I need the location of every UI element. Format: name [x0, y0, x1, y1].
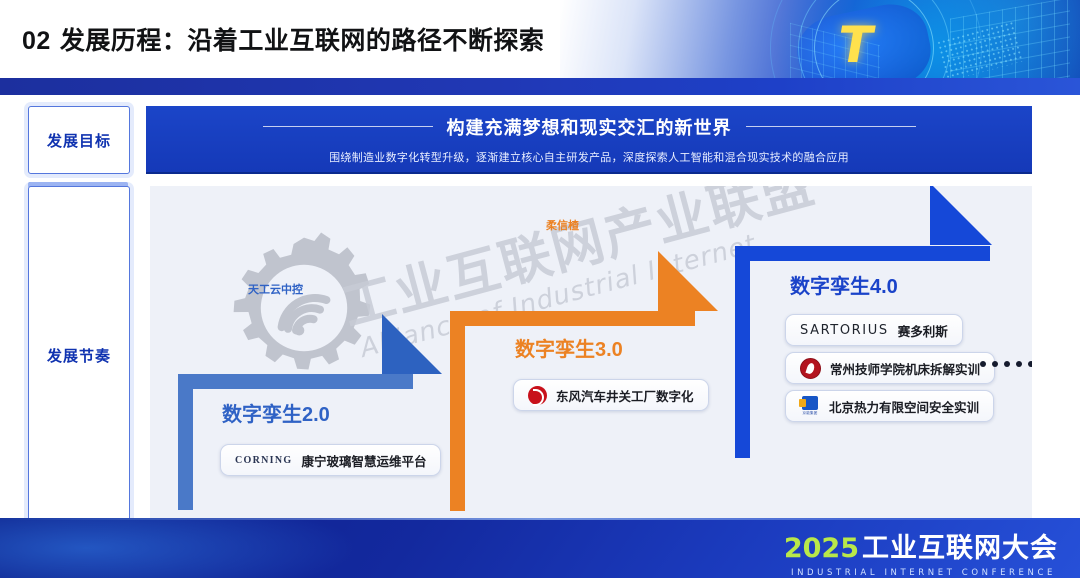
- deco-letter-t-icon: T: [833, 22, 898, 74]
- goal-banner-headline: 构建充满梦想和现实交汇的新世界: [263, 114, 916, 140]
- ellipsis-dot: [992, 361, 998, 367]
- footer-glow: [0, 518, 380, 578]
- dongfeng-logo: [528, 386, 547, 405]
- rail-card-goal[interactable]: 发展目标: [28, 106, 130, 174]
- beijing-heat-logo-mark: [802, 396, 818, 410]
- header-divider-bar: [0, 78, 1080, 95]
- continuation-ellipsis: [980, 361, 1032, 367]
- slide-header: T 02发展历程：沿着工业互联网的路径不断探索: [0, 0, 1080, 95]
- stage-2-badge-dongfeng[interactable]: 东风汽车井关工厂数字化: [513, 379, 709, 411]
- ellipsis-dot: [1016, 361, 1022, 367]
- stage-3-badge-label-2: 常州技师学院机床拆解实训: [830, 359, 980, 378]
- ellipsis-dot: [980, 361, 986, 367]
- slide-footer: 2025 工业互联网大会 INDUSTRIAL INTERNET CONFERE…: [0, 518, 1080, 578]
- stage-1-arrow-icon: [382, 314, 442, 374]
- brand-name-en: INDUSTRIAL INTERNET CONFERENCE: [791, 568, 1056, 578]
- stage-1-badge-corning[interactable]: CORNING 康宁玻璃智慧运维平台: [220, 444, 441, 476]
- brand-name-cn: 工业互联网大会: [862, 526, 1058, 565]
- section-number: 02: [22, 27, 51, 55]
- brand-primary-line: 2025 工业互联网大会: [784, 526, 1058, 565]
- page-title: 02发展历程：沿着工业互联网的路径不断探索: [22, 21, 544, 57]
- brand-year: 2025: [784, 533, 859, 564]
- stage-3-arrow-icon: [930, 186, 992, 245]
- roadmap-panel: 工业互联网产业联盟 Alliance of Industrial Interne…: [150, 186, 1032, 522]
- goal-banner: 构建充满梦想和现实交汇的新世界 围绕制造业数字化转型升级，逐渐建立核心自主研发产…: [146, 106, 1032, 174]
- stage-2-badge-label: 东风汽车井关工厂数字化: [556, 386, 694, 405]
- stage-3-badge-label-1: 赛多利斯: [898, 321, 948, 340]
- stage-1-caption: 天工云中控: [248, 281, 303, 297]
- rail-card-rhythm[interactable]: 发展节奏: [28, 186, 130, 524]
- corning-logo: CORNING: [235, 455, 292, 466]
- beijing-heat-logo: 京能集团: [800, 395, 820, 417]
- stage-2-title: 数字孪生3.0: [515, 333, 623, 362]
- stage-2-bracket-vertical: [450, 311, 465, 511]
- gear-wifi-watermark-icon: [224, 228, 384, 388]
- stage-3-title: 数字孪生4.0: [790, 270, 898, 299]
- beijing-heat-logo-text: 京能集团: [802, 411, 817, 416]
- slide-body: 发展目标 发展节奏 构建充满梦想和现实交汇的新世界 围绕制造业数字化转型升级，逐…: [0, 98, 1080, 518]
- ellipsis-dot: [1004, 361, 1010, 367]
- goal-rule-right: [746, 126, 916, 127]
- stage-2-arrow-icon: [658, 251, 718, 311]
- stage-3-badge-label-3: 北京热力有限空间安全实训: [829, 397, 979, 416]
- stage-3-bracket-vertical: [735, 246, 750, 458]
- stage-1-title: 数字孪生2.0: [222, 398, 330, 427]
- stage-1-bracket-vertical: [178, 374, 193, 510]
- changzhou-tech-logo: [800, 358, 821, 379]
- goal-subtitle: 围绕制造业数字化转型升级，逐渐建立核心自主研发产品，深度探索人工智能和混合现实技…: [329, 149, 849, 165]
- rail-goal-label: 发展目标: [47, 130, 111, 151]
- stage-3-bracket-horizontal: [735, 246, 990, 261]
- conference-brand-logo: 2025 工业互联网大会 INDUSTRIAL INTERNET CONFERE…: [784, 526, 1058, 578]
- footer-top-highlight: [0, 518, 1080, 520]
- goal-rule-left: [263, 126, 433, 127]
- stage-2-caption: 柔信楂: [546, 217, 579, 233]
- stage-1-badge-label: 康宁玻璃智慧运维平台: [301, 451, 426, 470]
- section-title-text: 发展历程：沿着工业互联网的路径不断探索: [60, 27, 545, 55]
- stage-3-badge-beijing-heat[interactable]: 京能集团 北京热力有限空间安全实训: [785, 390, 994, 422]
- stage-1-bracket-horizontal: [178, 374, 413, 389]
- sartorius-logo: SARTORIUS: [800, 323, 889, 338]
- stage-2-bracket-horizontal: [450, 311, 695, 326]
- rail-rhythm-label: 发展节奏: [47, 345, 111, 366]
- stage-3-badge-changzhou[interactable]: 常州技师学院机床拆解实训: [785, 352, 995, 384]
- ellipsis-dot: [1028, 361, 1032, 367]
- stage-3-badge-sartorius[interactable]: SARTORIUS 赛多利斯: [785, 314, 963, 346]
- goal-title: 构建充满梦想和现实交汇的新世界: [447, 114, 732, 140]
